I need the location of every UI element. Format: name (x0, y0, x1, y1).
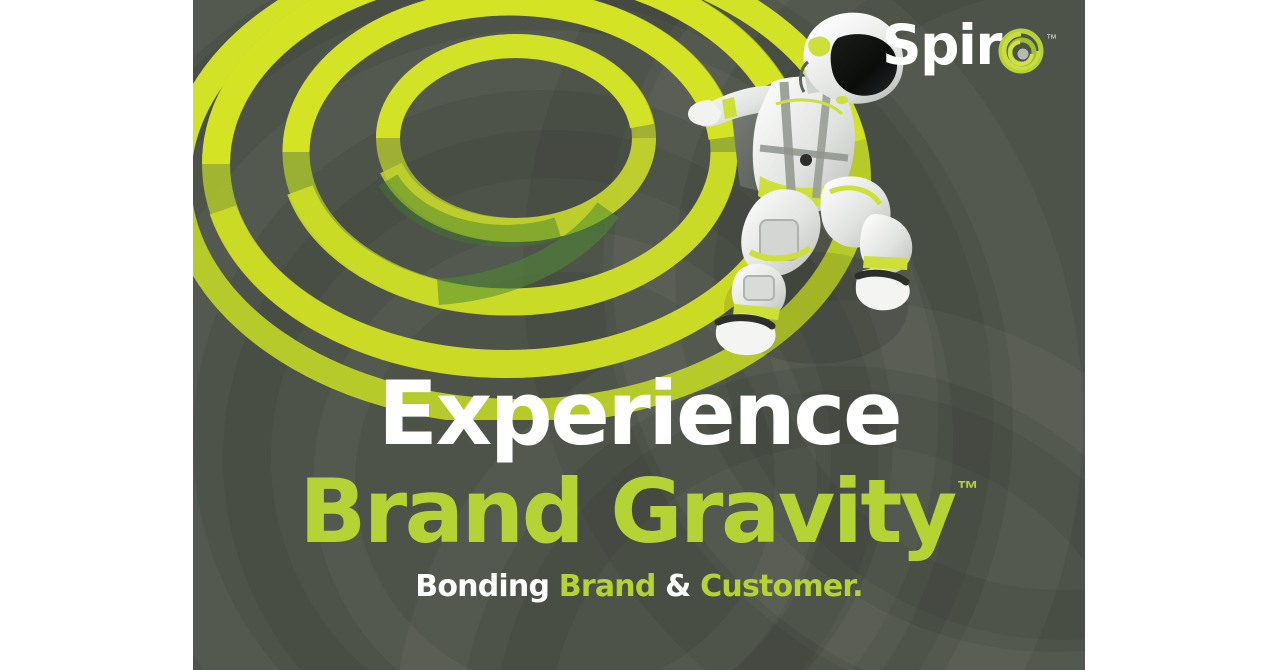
headline-trademark-icon: ™ (957, 476, 979, 502)
headline-block: Experience Brand Gravity ™ Bonding Brand… (193, 368, 1085, 604)
tagline-part-customer: Customer. (700, 569, 863, 604)
spiral-o-icon (998, 28, 1044, 74)
tagline-part-brand: Brand (559, 569, 656, 604)
headline-line-2-row: Brand Gravity ™ (193, 466, 1085, 558)
headline-line-1: Experience (193, 368, 1085, 460)
letterbox-left (0, 0, 193, 670)
tagline-part-bonding: Bonding (415, 569, 558, 604)
letterbox-right (1085, 0, 1279, 670)
spiral-rings-graphic (193, 0, 898, 420)
headline-line-2: Brand Gravity (299, 466, 955, 558)
poster-artwork: Spir ™ Experience Brand Gravity ™ Bondin (193, 0, 1085, 670)
logo-trademark-icon: ™ (1046, 32, 1057, 46)
tagline-part-ampersand: & (656, 569, 701, 604)
spiro-logo: Spir ™ (882, 16, 1057, 82)
poster-frame: Spir ™ Experience Brand Gravity ™ Bondin (0, 0, 1279, 670)
logo-wordmark: Spir (882, 16, 1001, 74)
tagline: Bonding Brand & Customer. (193, 570, 1085, 604)
